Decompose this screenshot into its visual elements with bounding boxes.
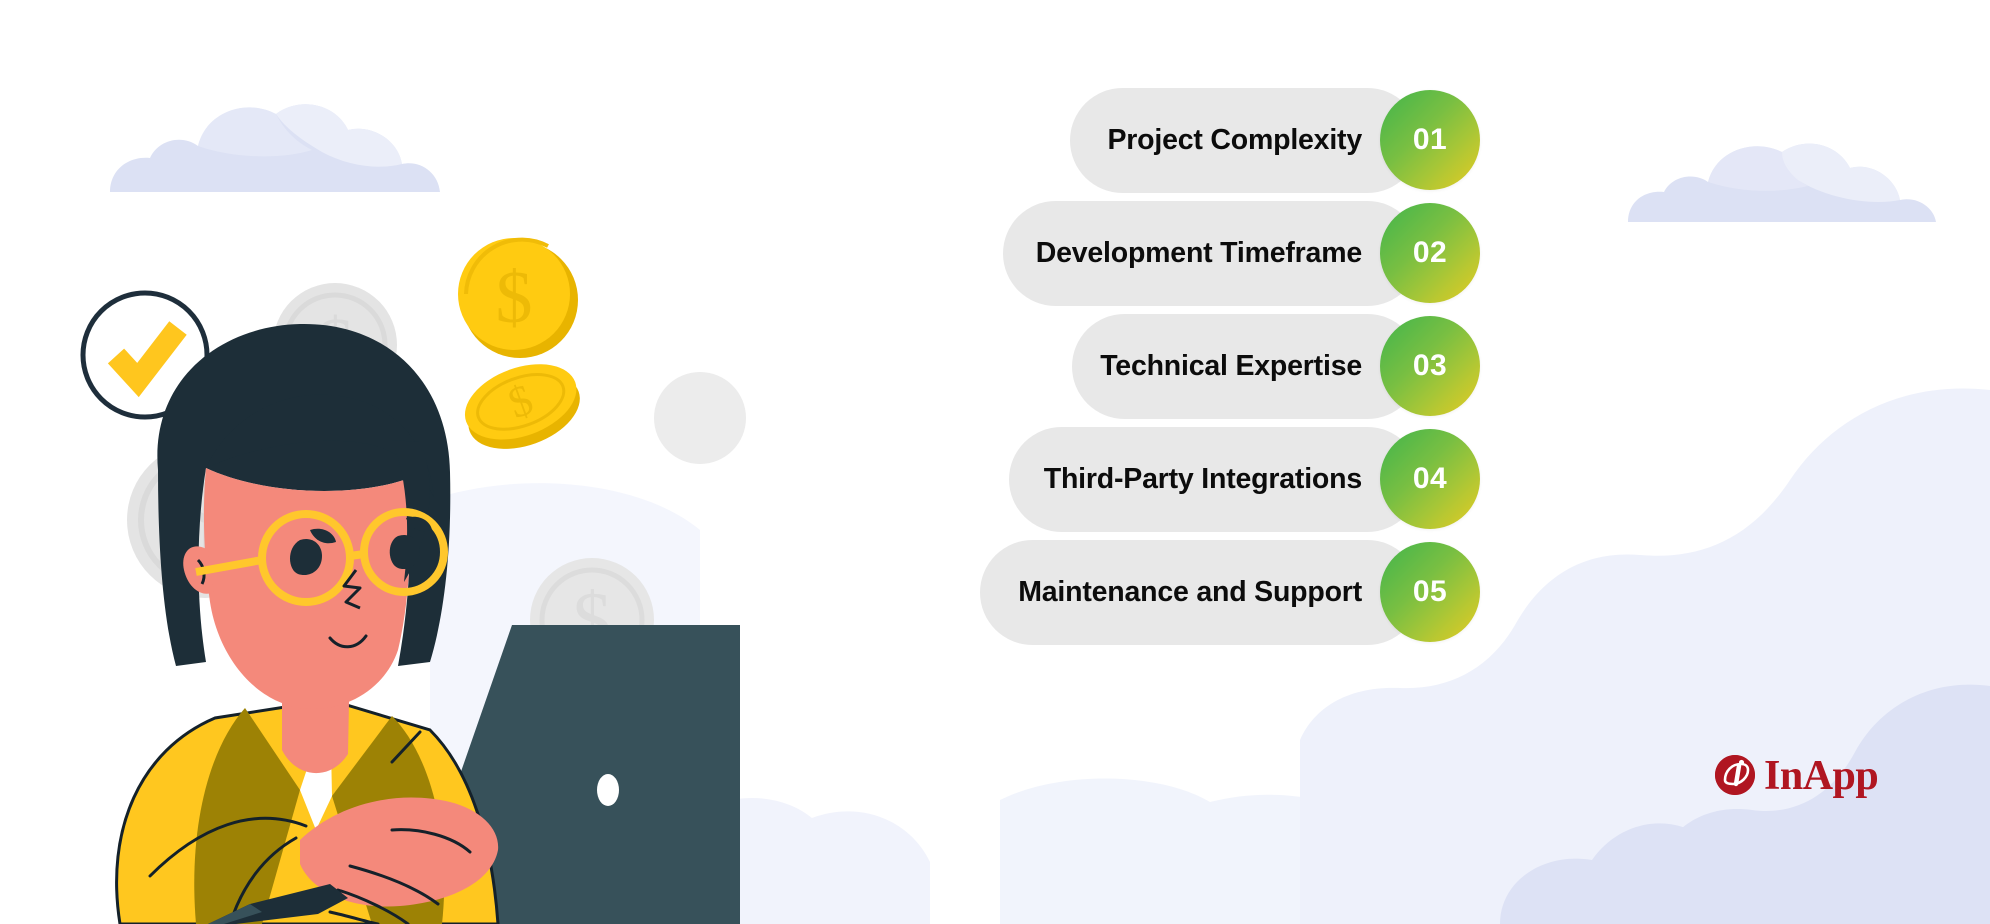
inapp-logo[interactable]: InApp <box>1712 753 1878 799</box>
list-item-label: Technical Expertise <box>1100 350 1362 383</box>
list-item-number-badge[interactable]: 02 <box>1380 203 1480 303</box>
cloud-top-left <box>110 104 440 192</box>
infographic-canvas: $ $ $ $ $ <box>0 0 1990 924</box>
list-item-number: 03 <box>1413 349 1447 383</box>
list-item-number-badge[interactable]: 03 <box>1380 316 1480 416</box>
list-item-number-badge[interactable]: 05 <box>1380 542 1480 642</box>
gray-coin-far-right <box>654 372 746 464</box>
list-item[interactable]: Maintenance and Support 05 <box>820 540 1480 645</box>
list-item-pill[interactable]: Third-Party Integrations <box>1009 427 1420 532</box>
woman-at-laptop-illustration: $ $ $ $ $ <box>0 230 760 924</box>
cloud-top-right <box>1628 144 1936 222</box>
gold-coin-tilted: $ <box>455 350 591 463</box>
woman-figure <box>117 324 499 924</box>
list-item-pill[interactable]: Technical Expertise <box>1072 314 1420 419</box>
list-item[interactable]: Development Timeframe 02 <box>820 201 1480 306</box>
list-item[interactable]: Third-Party Integrations 04 <box>820 427 1480 532</box>
list-item[interactable]: Technical Expertise 03 <box>820 314 1480 419</box>
list-item[interactable]: Project Complexity 01 <box>820 88 1480 193</box>
list-item-label: Maintenance and Support <box>1018 576 1362 609</box>
i-in-circle-icon <box>1712 753 1758 799</box>
list-item-label: Third-Party Integrations <box>1044 463 1362 496</box>
list-item-label: Development Timeframe <box>1036 237 1362 270</box>
list-item-number-badge[interactable]: 04 <box>1380 429 1480 529</box>
list-item-label: Project Complexity <box>1107 124 1362 157</box>
list-item-number-badge[interactable]: 01 <box>1380 90 1480 190</box>
list-item-number: 02 <box>1413 236 1447 270</box>
list-item-pill[interactable]: Project Complexity <box>1070 88 1420 193</box>
list-item-number: 05 <box>1413 575 1447 609</box>
logo-wordmark: InApp <box>1764 755 1878 797</box>
list-item-pill[interactable]: Maintenance and Support <box>980 540 1420 645</box>
svg-text:$: $ <box>496 257 533 339</box>
list-item-number: 04 <box>1413 462 1447 496</box>
list-item-pill[interactable]: Development Timeframe <box>1003 201 1420 306</box>
numbered-list: Project Complexity 01 Development Timefr… <box>820 88 1480 788</box>
list-item-number: 01 <box>1413 123 1447 157</box>
gold-coin-large: $ <box>458 238 578 358</box>
